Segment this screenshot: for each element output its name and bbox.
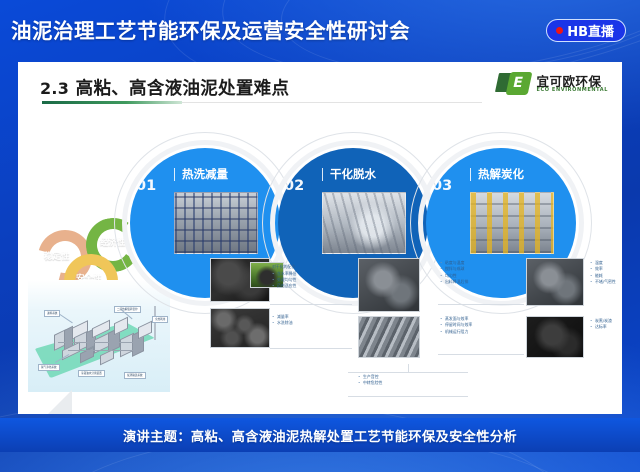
title-underline-extension (182, 102, 482, 103)
page-curl-decoration (46, 390, 72, 414)
slide-canvas[interactable]: 2.3 高粘、高含液油泥处置难点 E 宜可欧环保 ECO ENVIRONMENT… (18, 62, 622, 414)
plant-callout: 冷凝油水分离装置 (78, 370, 105, 377)
detail-photo-char-lump (526, 258, 584, 306)
section-title-03: 热解炭化 (470, 168, 524, 181)
note-wash-lower: 减量率 水洗除油 (272, 314, 293, 327)
live-stream-badge[interactable]: HB直播 (546, 19, 626, 42)
slide-title-number: 2.3 (40, 79, 69, 98)
logo-name-en: ECO ENVIRONMENTAL (536, 88, 608, 93)
plant-callout: 炭渣输送系统 (124, 372, 146, 379)
section-number-02: 02 (284, 178, 304, 194)
section-photo-03 (470, 192, 554, 254)
note-heading: 对干化的配合 (272, 264, 296, 270)
plant-callout: 余热利用 (152, 316, 168, 323)
title-underline (42, 101, 182, 104)
section-photo-01 (174, 192, 258, 254)
note-item: 机械运行阻力 (440, 329, 472, 335)
detail-photo-carbon-black (526, 316, 584, 358)
slide-title-text: 高粘、高含液油泥处置难点 (76, 79, 290, 99)
note-item: 达标率 (590, 324, 612, 330)
logo-mark-icon: E (497, 72, 531, 96)
note-item: 药剂适应性 (272, 283, 296, 289)
plant-callout: 二段热解旋转窑炉 (114, 306, 141, 313)
slide-title: 2.3 高粘、高含液油泥处置难点 (40, 75, 289, 100)
header-bar: 油泥治理工艺节能环保及运营安全性研讨会 (0, 0, 640, 58)
page-title: 油泥治理工艺节能环保及运营安全性研讨会 (11, 14, 410, 44)
note-wash-upper: 对干化的配合 含水率降低 处理均匀性 药剂适应性 (272, 264, 296, 290)
note-item: 不堵/气密性 (590, 279, 616, 285)
detail-photo-pellets (210, 308, 270, 348)
plant-callout: 尾气净化系统 (38, 364, 60, 371)
section-number-01: 01 (136, 178, 156, 194)
note-pyro-upper: 温度 效率 能耗 不堵/气密性 (590, 260, 616, 285)
note-pyro-lower: 炭黑/炭渣 达标率 (590, 318, 612, 331)
cycle-label-stability: 稳定性 (44, 250, 70, 262)
detail-photo-screw-conveyor (358, 316, 420, 358)
company-logo: E 宜可欧环保 ECO ENVIRONMENTAL (497, 72, 608, 96)
section-title-01: 热洗减量 (174, 168, 228, 181)
bottom-banner: 演讲主题：高粘、高含液油泥热解处置工艺节能环保及安全性分析 (0, 418, 640, 452)
note-item: 中转危险性 (358, 380, 382, 386)
section-number-03: 03 (432, 178, 452, 194)
note-bottom: 生产音控 中转危险性 (358, 374, 382, 387)
note-dry-lower: 蒸发面与效率 停留时间与效率 机械运行阻力 (440, 316, 472, 335)
note-item: 水洗除油 (272, 320, 293, 326)
note-dry-upper: 粘度与温度 搅拌与成球 均匀性 出料降温后排 (440, 260, 468, 285)
section-photo-02 (322, 192, 406, 254)
logo-name-cn: 宜可欧环保 (536, 75, 608, 88)
live-badge-label: HB直播 (567, 21, 614, 40)
note-item: 出料降温后排 (440, 279, 468, 285)
banner-text: 演讲主题：高粘、高含液油泥热解处置工艺节能环保及安全性分析 (123, 426, 517, 445)
plant-isometric-diagram: 进料系统 二段热解旋转窑炉 余热利用 尾气净化系统 冷凝油水分离装置 炭渣输送系… (28, 280, 170, 392)
detail-photo-dried-sludge (358, 258, 420, 312)
live-dot-icon (556, 27, 563, 34)
section-title-02: 干化脱水 (322, 168, 376, 181)
